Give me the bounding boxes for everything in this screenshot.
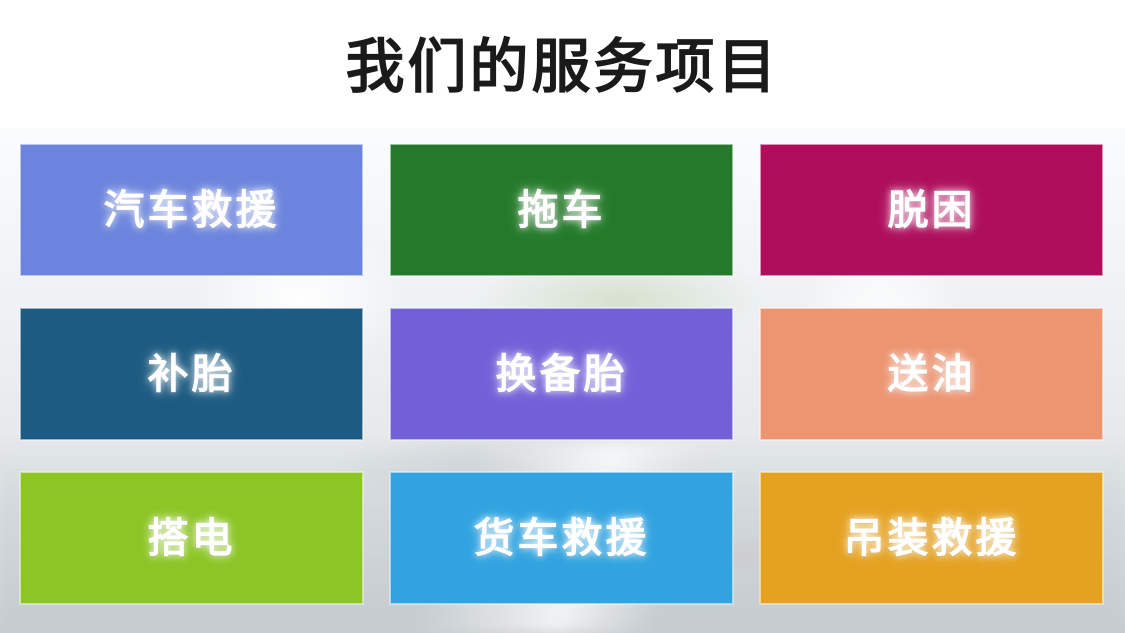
service-tile-tire-repair[interactable]: 补胎 bbox=[20, 308, 363, 440]
service-tile-label: 换备胎 bbox=[496, 354, 628, 395]
service-tile-car-rescue[interactable]: 汽车救援 bbox=[20, 144, 363, 276]
service-tile-label: 补胎 bbox=[148, 354, 236, 395]
service-tile-fuel-delivery[interactable]: 送油 bbox=[760, 308, 1103, 440]
service-tile-label: 送油 bbox=[888, 354, 976, 395]
service-tile-spare-tire-change[interactable]: 换备胎 bbox=[390, 308, 733, 440]
service-poster: 我们的服务项目 汽车救援 拖车 脱困 补胎 换备胎 送油 搭电 货车救援 吊装救… bbox=[0, 0, 1125, 633]
service-tile-label: 搭电 bbox=[148, 518, 236, 559]
service-tile-extrication[interactable]: 脱困 bbox=[760, 144, 1103, 276]
service-tile-label: 汽车救援 bbox=[104, 190, 280, 231]
service-tile-grid: 汽车救援 拖车 脱困 补胎 换备胎 送油 搭电 货车救援 吊装救援 bbox=[20, 144, 1103, 604]
service-tile-label: 脱困 bbox=[888, 190, 976, 231]
service-tile-label: 货车救援 bbox=[474, 518, 650, 559]
service-tile-towing[interactable]: 拖车 bbox=[390, 144, 733, 276]
service-tile-jump-start[interactable]: 搭电 bbox=[20, 472, 363, 604]
service-tile-label: 吊装救援 bbox=[844, 518, 1020, 559]
service-tile-label: 拖车 bbox=[518, 190, 606, 231]
service-tile-crane-rescue[interactable]: 吊装救援 bbox=[760, 472, 1103, 604]
service-tile-truck-rescue[interactable]: 货车救援 bbox=[390, 472, 733, 604]
page-title: 我们的服务项目 bbox=[345, 32, 779, 97]
title-bar: 我们的服务项目 bbox=[0, 0, 1125, 128]
